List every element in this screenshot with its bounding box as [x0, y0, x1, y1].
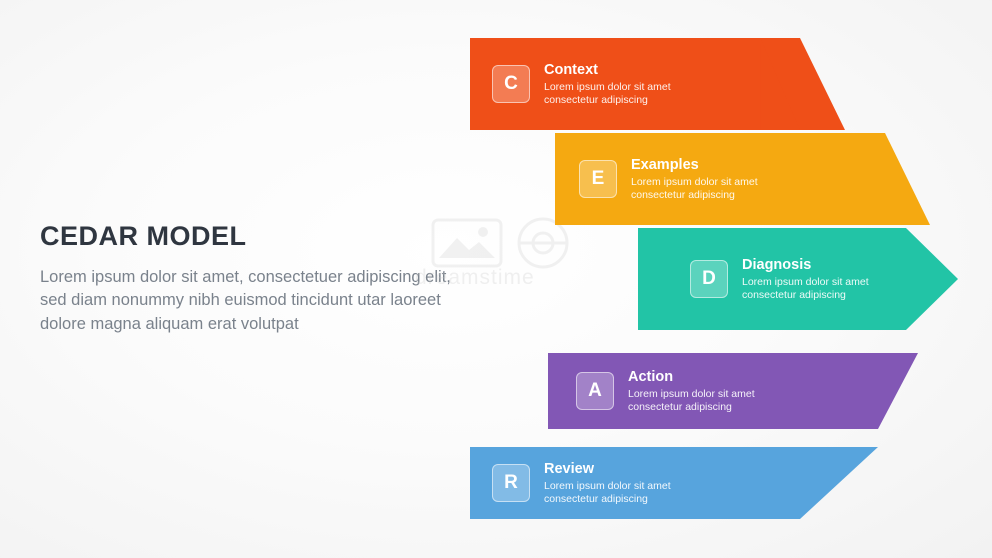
- action-texts: Action Lorem ipsum dolor sit amet consec…: [628, 368, 808, 415]
- review-title: Review: [544, 460, 724, 478]
- action-title: Action: [628, 368, 808, 386]
- context-content: C Context Lorem ipsum dolor sit amet con…: [492, 38, 724, 130]
- review-description: Lorem ipsum dolor sit amet consectetur a…: [544, 480, 724, 507]
- action-description: Lorem ipsum dolor sit amet consectetur a…: [628, 388, 808, 415]
- step-row-diagnosis[interactable]: D Diagnosis Lorem ipsum dolor sit amet c…: [638, 228, 958, 330]
- examples-arrow-tip: [885, 133, 930, 225]
- examples-title: Examples: [631, 156, 811, 174]
- context-letter-badge: C: [492, 65, 530, 103]
- examples-content: E Examples Lorem ipsum dolor sit amet co…: [579, 133, 811, 225]
- diagnosis-title: Diagnosis: [742, 256, 922, 274]
- examples-texts: Examples Lorem ipsum dolor sit amet cons…: [631, 156, 811, 203]
- step-row-review[interactable]: R Review Lorem ipsum dolor sit amet cons…: [470, 447, 800, 519]
- context-title: Context: [544, 61, 724, 79]
- step-row-examples[interactable]: E Examples Lorem ipsum dolor sit amet co…: [555, 133, 885, 225]
- context-texts: Context Lorem ipsum dolor sit amet conse…: [544, 61, 724, 108]
- diagnosis-letter-badge: D: [690, 260, 728, 298]
- review-arrow-tip: [800, 447, 878, 519]
- examples-description: Lorem ipsum dolor sit amet consectetur a…: [631, 176, 811, 203]
- step-row-context[interactable]: C Context Lorem ipsum dolor sit amet con…: [470, 38, 800, 130]
- infographic-slide: CEDAR MODEL Lorem ipsum dolor sit amet, …: [0, 0, 992, 558]
- review-content: R Review Lorem ipsum dolor sit amet cons…: [492, 447, 724, 519]
- review-texts: Review Lorem ipsum dolor sit amet consec…: [544, 460, 724, 507]
- diagnosis-description: Lorem ipsum dolor sit amet consectetur a…: [742, 276, 922, 303]
- steps-container: C Context Lorem ipsum dolor sit amet con…: [0, 0, 992, 558]
- action-letter-badge: A: [576, 372, 614, 410]
- diagnosis-texts: Diagnosis Lorem ipsum dolor sit amet con…: [742, 256, 922, 303]
- action-content: A Action Lorem ipsum dolor sit amet cons…: [576, 353, 808, 429]
- action-arrow-tip: [878, 353, 918, 429]
- context-arrow-tip: [800, 38, 845, 130]
- step-row-action[interactable]: A Action Lorem ipsum dolor sit amet cons…: [548, 353, 878, 429]
- examples-letter-badge: E: [579, 160, 617, 198]
- diagnosis-content: D Diagnosis Lorem ipsum dolor sit amet c…: [690, 228, 922, 330]
- review-letter-badge: R: [492, 464, 530, 502]
- context-description: Lorem ipsum dolor sit amet consectetur a…: [544, 81, 724, 108]
